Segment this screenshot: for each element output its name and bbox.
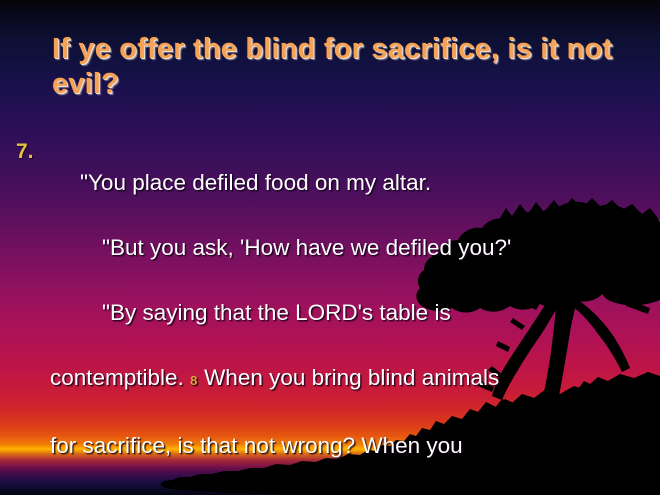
presentation-slide: If ye offer the blind for sacrifice, is … xyxy=(0,0,660,495)
scripture-line-4-pre: contemptible. xyxy=(50,365,190,390)
verse-number-marker: 8 xyxy=(190,373,198,388)
scripture-line-4: contemptible. 8 When you bring blind ani… xyxy=(50,362,650,398)
scripture-text: "You place defiled food on my altar. "Bu… xyxy=(50,134,650,495)
scripture-line-1: "You place defiled food on my altar. xyxy=(50,167,650,200)
scripture-line-5: for sacrifice, is that not wrong? When y… xyxy=(50,430,650,463)
slide-body: 7. "You place defiled food on my altar. … xyxy=(0,134,660,424)
scripture-line-4-post: When you bring blind animals xyxy=(198,365,499,390)
slide-title: If ye offer the blind for sacrifice, is … xyxy=(52,32,627,102)
scripture-line-3: "By saying that the LORD's table is xyxy=(50,297,650,330)
scripture-line-2: "But you ask, 'How have we defiled you?' xyxy=(50,232,650,265)
bullet-number: 7. xyxy=(16,140,34,164)
